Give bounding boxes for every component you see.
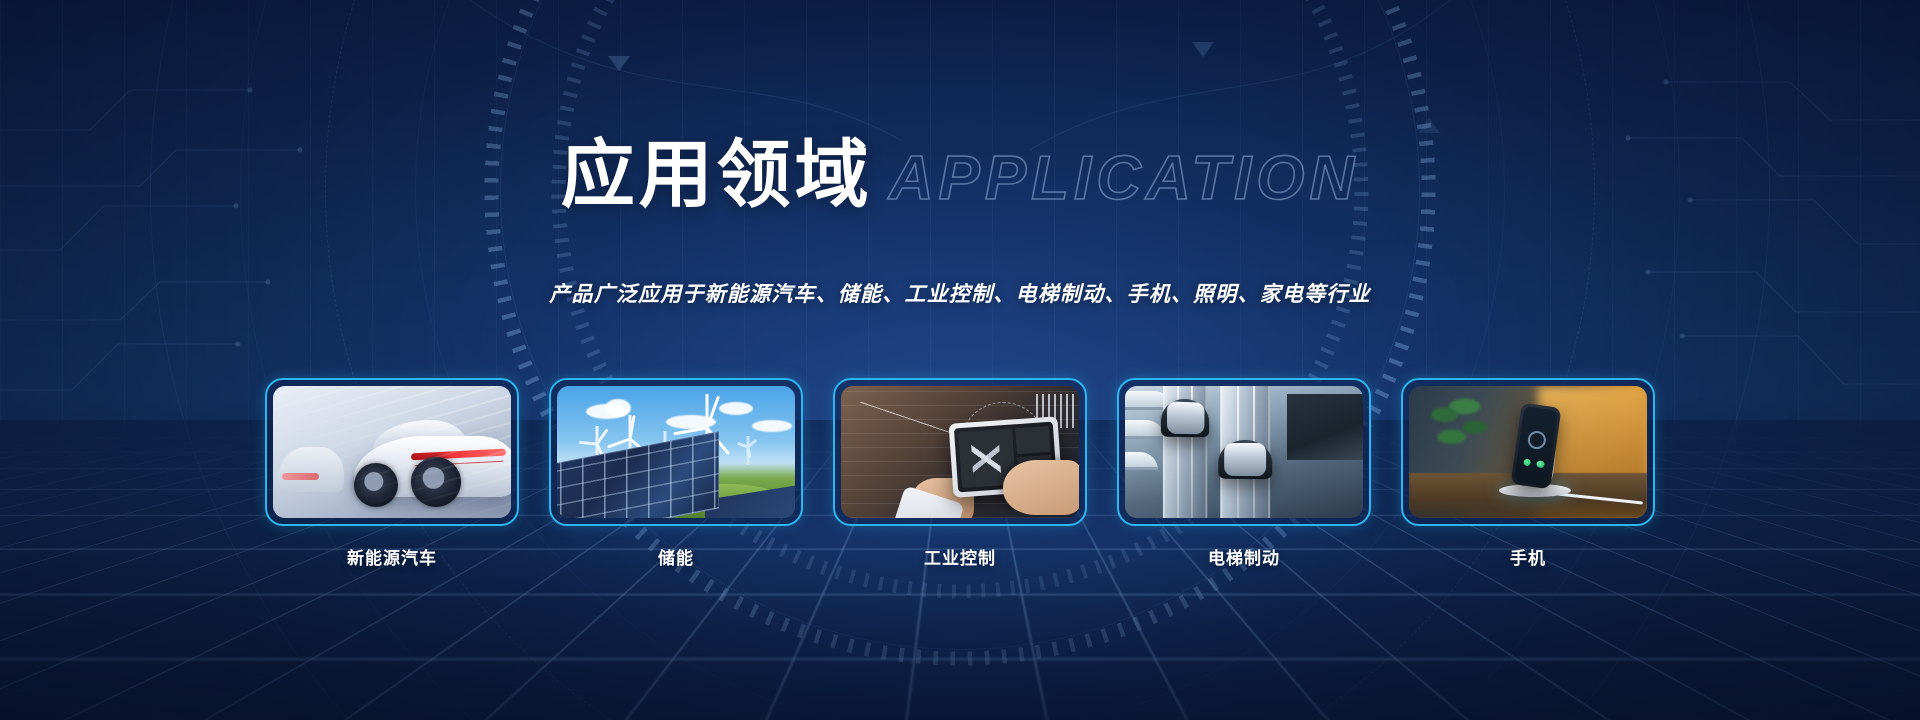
card-image-engineer-with-tablet-robotic-arm-hud [841,386,1079,518]
card-label: 手机 [1401,544,1655,569]
card-thumbnail-frame[interactable] [549,378,803,526]
card-label: 电梯制动 [1117,544,1371,569]
card-label: 工业控制 [833,544,1087,569]
banner-title-row: 应用领域 APPLICATION [0,138,1920,212]
card-image-electric-sports-car-on-highway [273,386,511,518]
card-thumbnail-frame[interactable] [265,378,519,526]
card-thumbnail-frame[interactable] [1401,378,1655,526]
application-card[interactable]: 新能源汽车 [265,378,519,569]
card-image-solar-panels-and-wind-turbines [557,386,795,518]
application-card[interactable]: 工业控制 [833,378,1087,569]
application-card[interactable]: 电梯制动 [1117,378,1371,569]
card-label: 储能 [549,544,803,569]
page-subtitle: 产品广泛应用于新能源汽车、储能、工业控制、电梯制动、手机、照明、家电等行业 [0,278,1920,308]
card-image-glass-elevator-shafts-machinery [1125,386,1363,518]
application-card[interactable]: 手机 [1401,378,1655,569]
card-thumbnail-frame[interactable] [1117,378,1371,526]
application-card[interactable]: 储能 [549,378,803,569]
card-label: 新能源汽车 [265,544,519,569]
application-banner: 应用领域 APPLICATION 产品广泛应用于新能源汽车、储能、工业控制、电梯… [0,0,1920,720]
page-title: 应用领域 [561,138,873,212]
card-thumbnail-frame[interactable] [833,378,1087,526]
page-title-english: APPLICATION [889,148,1360,210]
application-card-list: 新能源汽车 [0,378,1920,569]
card-image-smartphone-on-wireless-charging-stand [1409,386,1647,518]
